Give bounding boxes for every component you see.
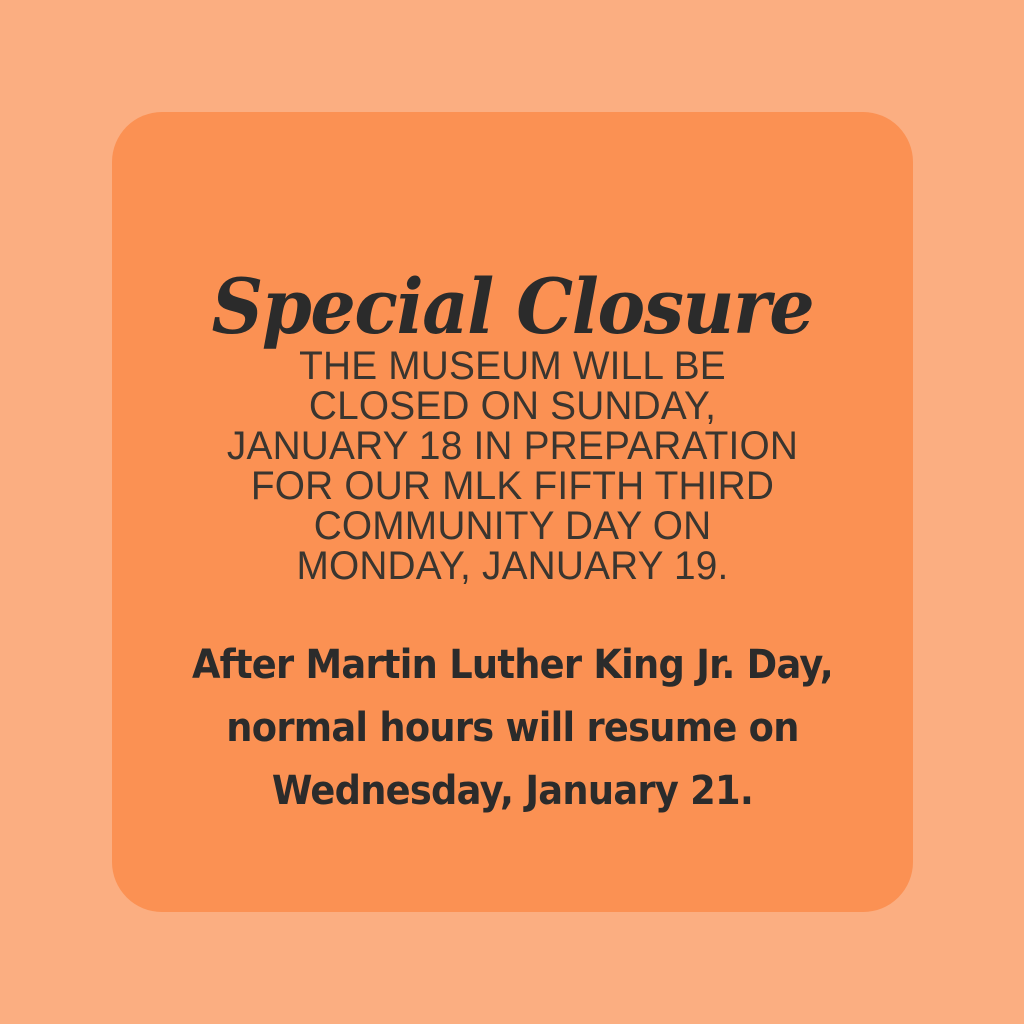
notice-line: CLOSED ON SUNDAY, (124, 386, 901, 426)
page-title: Special Closure (136, 269, 889, 345)
closure-notice-poster: Special Closure THE MUSEUM WILL BE CLOSE… (0, 0, 1024, 1024)
notice-card: Special Closure THE MUSEUM WILL BE CLOSE… (112, 112, 913, 912)
closing-line: After Martin Luther King Jr. Day, (144, 634, 881, 697)
closing-line: Wednesday, January 21. (144, 760, 881, 823)
notice-line: MONDAY, JANUARY 19. (124, 546, 901, 586)
notice-line: THE MUSEUM WILL BE (124, 346, 901, 386)
closing-line: normal hours will resume on (144, 697, 881, 760)
notice-line: COMMUNITY DAY ON (124, 506, 901, 546)
notice-line: FOR OUR MLK FIFTH THIRD (124, 466, 901, 506)
closure-notice-text: THE MUSEUM WILL BE CLOSED ON SUNDAY, JAN… (112, 346, 913, 586)
resume-hours-text: After Martin Luther King Jr. Day, normal… (112, 634, 913, 823)
notice-line: JANUARY 18 IN PREPARATION (124, 426, 901, 466)
